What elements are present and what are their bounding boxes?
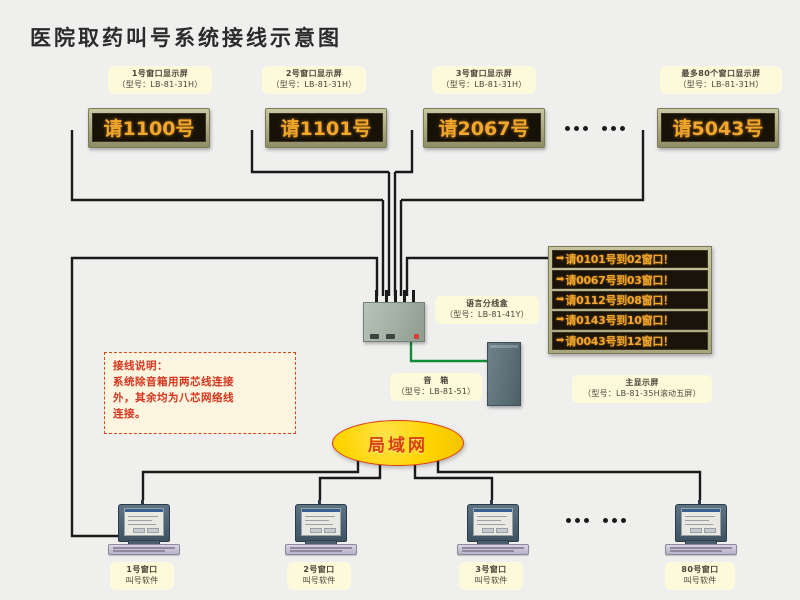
lan-node[interactable]: 局域网 [332,420,464,466]
window-titlebar [682,509,720,512]
main-display-row-4-text: 请0143号到10窗口！ [565,312,673,328]
caption-display-3: 3号窗口显示屏 （型号：LB-81-31H） [432,66,536,94]
wire-lan-pc80 [438,455,700,500]
junction-box-body [363,302,425,342]
caption-computer-1-line2: 叫号软件 [116,576,168,587]
wire-speaker-audio [411,341,487,361]
junction-port-1 [370,334,379,339]
caption-junction-box-line2: （型号：LB-81-41Y） [441,310,533,321]
wire-lan-pc2 [320,459,380,500]
led-display-window-1-screen: 请1100号 [92,113,206,142]
main-display-row-4: ➡ 请0143号到10窗口！ [552,311,708,329]
monitor-2 [295,504,347,542]
caption-computer-80: 80号窗口 叫号软件 [665,562,735,590]
caption-computer-80-line1: 80号窗口 [671,565,729,576]
caption-speaker-line2: （型号：LB-81-51） [396,387,476,398]
led-display-window-2-screen: 请1101号 [269,113,383,142]
wire-main-display [407,258,550,296]
wire-lan-pc3 [415,459,492,500]
main-display-row-3: ➡ 请0112号到08窗口！ [552,291,708,309]
junction-port-2 [386,334,395,339]
main-display-row-1: ➡ 请0101号到02窗口！ [552,250,708,268]
monitor-1 [118,504,170,542]
caption-display-3-line2: （型号：LB-81-31H） [438,80,530,91]
led-display-window-80-text: 请5043号 [673,114,764,141]
arrow-right-icon: ➡ [556,315,564,325]
caption-display-1-line1: 1号窗口显示屏 [114,69,206,80]
keyboard-1 [108,544,180,555]
arrow-right-icon: ➡ [556,336,564,346]
led-display-window-3-screen: 请2067号 [427,113,541,142]
led-display-window-2-text: 请1101号 [281,114,372,141]
main-display-row-2: ➡ 请0067号到03窗口！ [552,270,708,288]
caption-display-1: 1号窗口显示屏 （型号：LB-81-31H） [108,66,212,94]
caption-junction-box-line1: 语言分线盒 [441,299,533,310]
main-display-row-3-text: 请0112号到08窗口！ [565,292,673,308]
keyboard-3 [457,544,529,555]
caption-computer-1-line1: 1号窗口 [116,565,168,576]
ellipsis-displays [565,126,629,131]
caption-computer-1: 1号窗口 叫号软件 [110,562,174,590]
caption-computer-3: 3号窗口 叫号软件 [459,562,523,590]
keyboard-80 [665,544,737,555]
arrow-right-icon: ➡ [556,275,564,285]
wire-lan-pc1 [143,455,358,500]
caption-speaker-line1: 音 箱 [396,376,476,387]
caption-computer-2: 2号窗口 叫号软件 [287,562,351,590]
monitor-2-screen [301,508,341,536]
monitor-3-screen [473,508,513,536]
main-display-row-2-text: 请0067号到03窗口！ [565,272,673,288]
computer-station-80[interactable] [665,500,735,554]
caption-display-2: 2号窗口显示屏 （型号：LB-81-31H） [262,66,366,94]
wiring-note-box: 接线说明： 系统除音箱用两芯线连接 外，其余均为八芯网络线 连接。 [104,352,296,434]
monitor-80-screen [681,508,721,536]
arrow-right-icon: ➡ [556,254,564,264]
junction-power-led [414,334,419,339]
caption-speaker: 音 箱 （型号：LB-81-51） [390,373,482,401]
main-display-row-1-text: 请0101号到02窗口！ [565,251,673,267]
speaker-top-highlight [490,345,518,348]
monitor-80 [675,504,727,542]
caption-computer-2-line1: 2号窗口 [293,565,345,576]
caption-computer-80-line2: 叫号软件 [671,576,729,587]
caption-display-80-line1: 最多80个窗口显示屏 [666,69,776,80]
caption-computer-2-line2: 叫号软件 [293,576,345,587]
page-title: 医院取药叫号系统接线示意图 [30,22,342,52]
main-display-board[interactable]: ➡ 请0101号到02窗口！ ➡ 请0067号到03窗口！ ➡ 请0112号到0… [548,246,712,354]
caption-main-display-line1: 主显示屏 [578,378,706,389]
caption-display-80: 最多80个窗口显示屏 （型号：LB-81-31H） [660,66,782,94]
computer-station-3[interactable] [457,500,527,554]
voice-junction-box[interactable] [363,290,423,342]
wiring-note-line4: 连接。 [113,407,287,423]
main-display-row-5-text: 请0043号到12窗口！ [565,333,673,349]
caption-display-2-line1: 2号窗口显示屏 [268,69,360,80]
caption-computer-3-line2: 叫号软件 [465,576,517,587]
caption-main-display: 主显示屏 （型号：LB-81-35H滚动五屏） [572,375,712,403]
lan-label: 局域网 [368,431,428,456]
wiring-note-line2: 系统除音箱用两芯线连接 [113,375,287,391]
window-titlebar [302,509,340,512]
caption-computer-3-line1: 3号窗口 [465,565,517,576]
caption-main-display-line2: （型号：LB-81-35H滚动五屏） [578,389,706,400]
caption-display-2-line2: （型号：LB-81-31H） [268,80,360,91]
diagram-canvas: 医院取药叫号系统接线示意图 1号窗口显示屏 （型号：LB-81-31H） 2号窗… [0,0,800,600]
led-display-window-3[interactable]: 请2067号 [423,108,545,148]
wire-display3 [395,130,412,172]
caption-display-80-line2: （型号：LB-81-31H） [666,80,776,91]
window-titlebar [474,509,512,512]
speaker-unit[interactable] [487,342,521,406]
computer-station-2[interactable] [285,500,355,554]
ellipsis-computers [566,518,630,523]
caption-display-3-line1: 3号窗口显示屏 [438,69,530,80]
arrow-right-icon: ➡ [556,295,564,305]
monitor-1-screen [124,508,164,536]
led-display-window-1[interactable]: 请1100号 [88,108,210,148]
caption-junction-box: 语言分线盒 （型号：LB-81-41Y） [435,296,539,324]
wiring-note-line3: 外，其余均为八芯网络线 [113,391,287,407]
caption-display-1-line2: （型号：LB-81-31H） [114,80,206,91]
led-display-window-1-text: 请1100号 [104,114,195,141]
led-display-window-3-text: 请2067号 [439,114,530,141]
wiring-note-line1: 接线说明： [113,359,287,375]
led-display-window-80[interactable]: 请5043号 [657,108,779,148]
monitor-3 [467,504,519,542]
led-display-window-2[interactable]: 请1101号 [265,108,387,148]
led-display-window-80-screen: 请5043号 [661,113,775,142]
computer-station-1[interactable] [108,500,178,554]
keyboard-2 [285,544,357,555]
window-titlebar [125,509,163,512]
main-display-row-5: ➡ 请0043号到12窗口！ [552,332,708,350]
